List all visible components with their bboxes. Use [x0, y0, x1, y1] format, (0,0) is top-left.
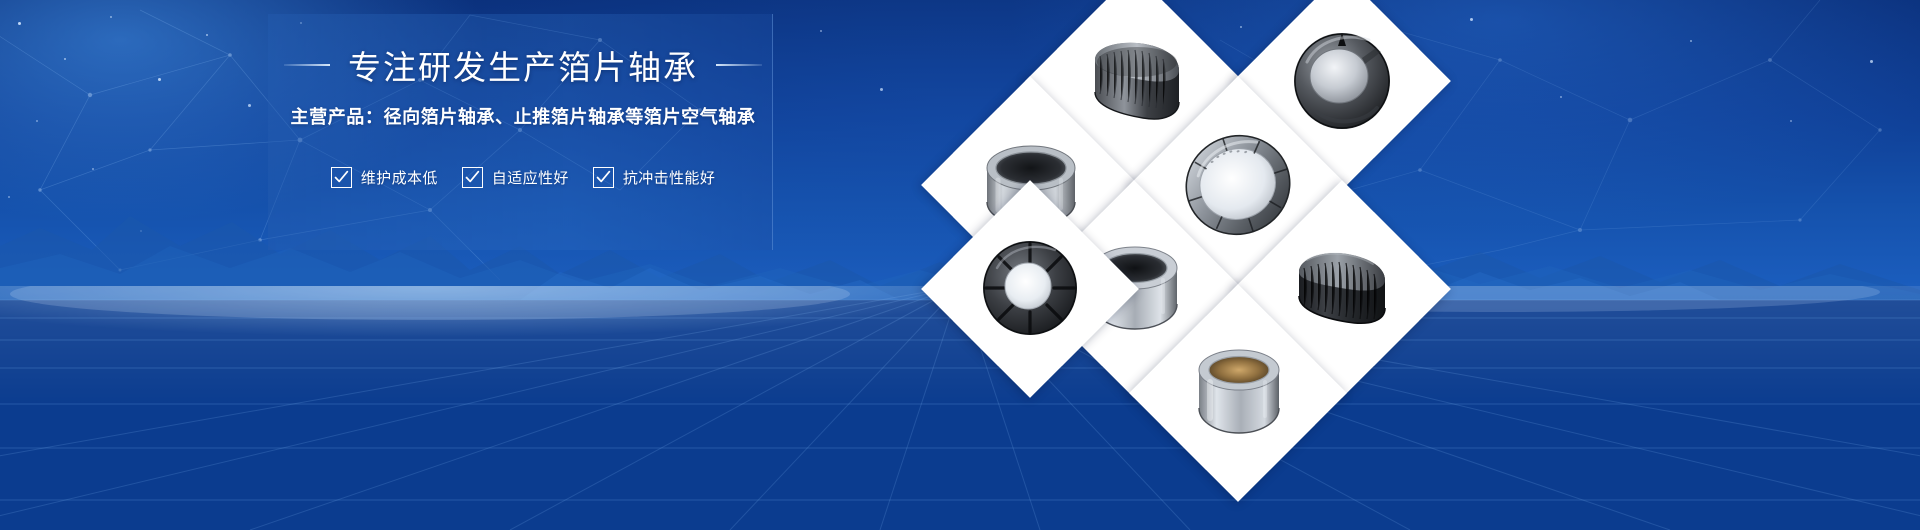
checkbox-icon — [462, 167, 483, 188]
feature-item-2: 自适应性好 — [462, 167, 569, 188]
checkbox-icon — [331, 167, 352, 188]
bronze-sleeve-bearing-08-image — [1173, 328, 1303, 458]
feature-list: 维护成本低 自适应性好 抗冲击性能好 — [268, 160, 778, 194]
feature-label-2: 自适应性好 — [492, 167, 569, 188]
dash-left-icon — [284, 64, 330, 66]
page-title: 专注研发生产箔片轴承 — [348, 41, 698, 89]
headline-row: 专注研发生产箔片轴承 — [268, 42, 778, 88]
feature-item-3: 抗冲击性能好 — [593, 167, 715, 188]
feature-item-1: 维护成本低 — [331, 167, 438, 188]
segmented-thrust-bearing-07-image — [965, 224, 1095, 354]
thrust-foil-bearing-04-image — [1173, 120, 1303, 250]
subtitle: 主营产品：径向箔片轴承、止推箔片轴承等箔片空气轴承 — [268, 103, 778, 129]
hero-banner: 专注研发生产箔片轴承 主营产品：径向箔片轴承、止推箔片轴承等箔片空气轴承 维护成… — [0, 0, 1920, 530]
foil-strip-bearing-01-image — [1069, 16, 1199, 146]
dash-right-icon — [716, 64, 762, 66]
split-ring-bearing-02-image — [1277, 16, 1407, 146]
product-gallery — [915, 0, 1475, 420]
corrugated-foil-strip-06-image — [1277, 224, 1407, 354]
feature-label-1: 维护成本低 — [361, 167, 438, 188]
checkbox-icon — [593, 167, 614, 188]
feature-label-3: 抗冲击性能好 — [623, 167, 715, 188]
